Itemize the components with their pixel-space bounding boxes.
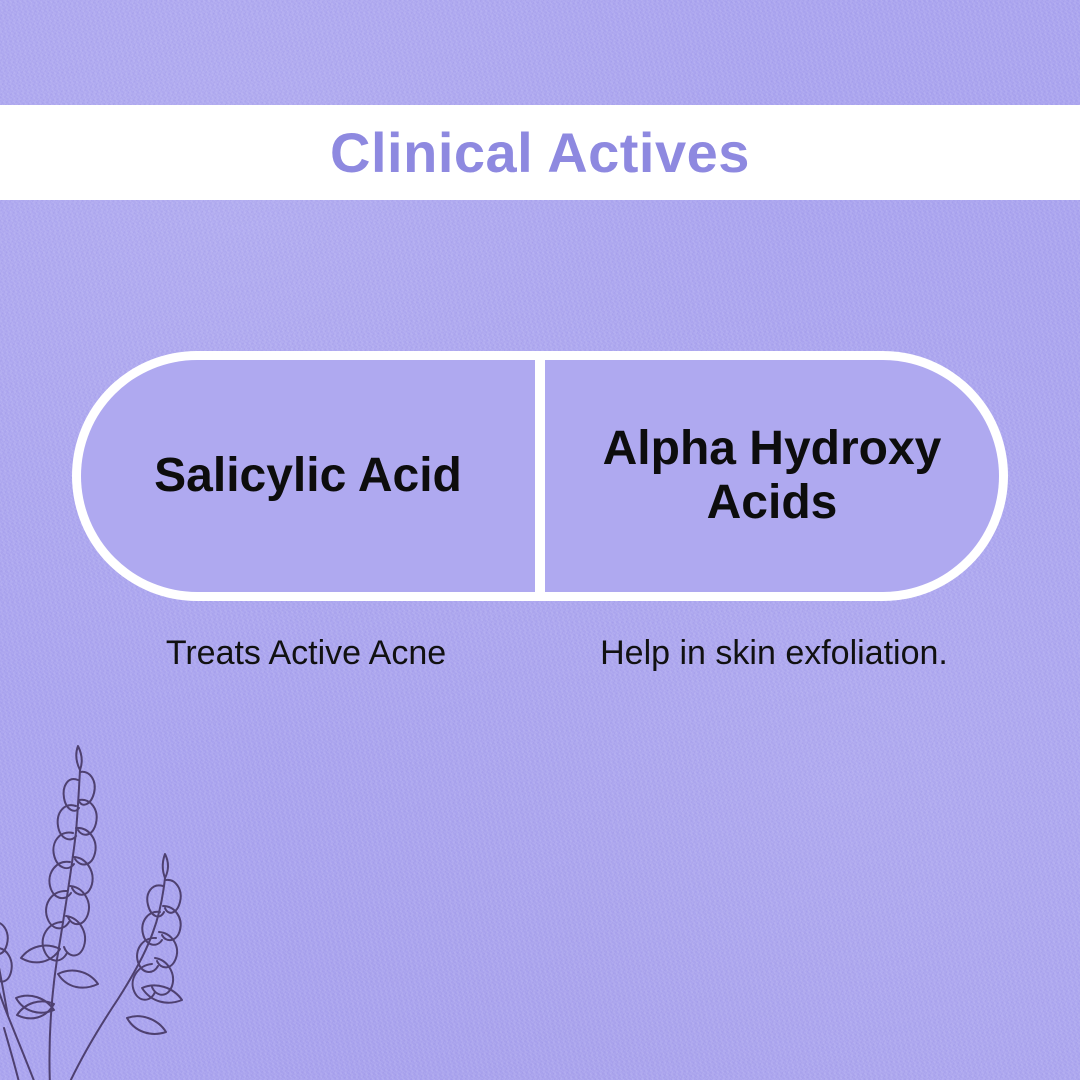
caption-salicylic-acid: Treats Active Acne	[166, 632, 446, 675]
caption-cell-alpha-hydroxy-acids: Help in skin exfoliation.	[540, 632, 1008, 675]
caption-alpha-hydroxy-acids: Help in skin exfoliation.	[600, 632, 948, 675]
caption-row: Treats Active Acne Help in skin exfoliat…	[72, 632, 1008, 675]
actives-card: Salicylic Acid Alpha Hydroxy Acids	[72, 351, 1008, 601]
caption-cell-salicylic-acid: Treats Active Acne	[72, 632, 540, 675]
active-cell-salicylic-acid[interactable]: Salicylic Acid	[81, 360, 535, 592]
page-title: Clinical Actives	[330, 125, 750, 181]
poster-canvas: Clinical Actives Salicylic Acid Alpha Hy…	[0, 0, 1080, 1080]
active-label-alpha-hydroxy-acids: Alpha Hydroxy Acids	[571, 422, 973, 530]
lavender-sprig-icon	[0, 736, 220, 1080]
active-cell-alpha-hydroxy-acids[interactable]: Alpha Hydroxy Acids	[545, 360, 999, 592]
active-label-salicylic-acid: Salicylic Acid	[154, 449, 462, 503]
title-band: Clinical Actives	[0, 105, 1080, 200]
